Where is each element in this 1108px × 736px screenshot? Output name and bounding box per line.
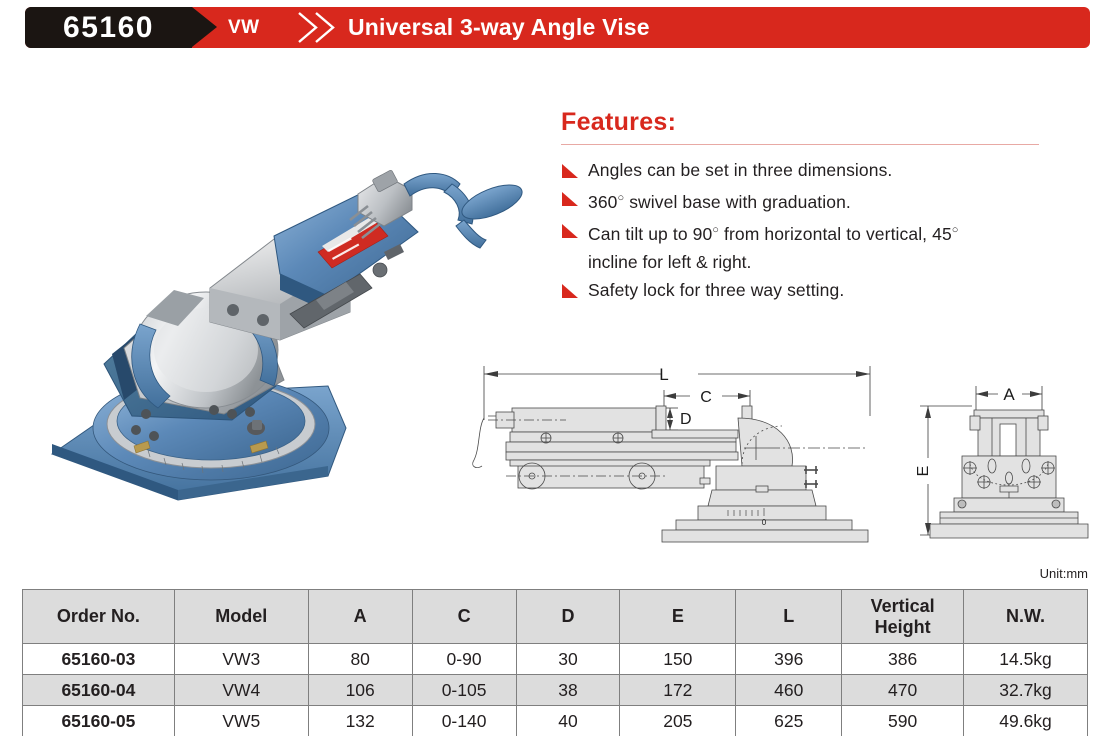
list-item: Angles can be set in three dimensions. <box>561 158 1061 183</box>
dim-label-E: E <box>915 466 932 477</box>
product-code: 65160 <box>63 7 154 48</box>
dim-label-L: L <box>659 365 668 384</box>
technical-drawing-side-view: L C D <box>466 360 886 550</box>
cell-vertical-height: 470 <box>842 675 964 706</box>
triangle-bullet-icon <box>561 223 581 240</box>
column-header-vertical-height-line2: Height <box>875 617 931 637</box>
cell-order-no: 65160-05 <box>23 706 175 736</box>
list-item: Safety lock for three way setting. <box>561 278 1061 303</box>
cell-a: 132 <box>308 706 412 736</box>
feature-text: 360○ swivel base with graduation. <box>588 186 851 215</box>
list-item: 360○ swivel base with graduation. <box>561 186 1061 215</box>
feature-text: Angles can be set in three dimensions. <box>588 158 892 183</box>
feature-text-continuation: incline for left & right. <box>588 250 1061 275</box>
catalog-page: 65160 VW Universal 3-way Angle Vise <box>0 0 1108 736</box>
features-section: Features: Angles can be set in three dim… <box>561 108 1061 306</box>
column-header-order-no: Order No. <box>23 590 175 644</box>
cell-vertical-height: 590 <box>842 706 964 736</box>
unit-note: Unit:mm <box>1040 566 1088 581</box>
cell-model: VW5 <box>174 706 308 736</box>
triangle-bullet-icon <box>561 191 581 208</box>
feature-text: Can tilt up to 90○ from horizontal to ve… <box>588 218 959 247</box>
column-header-d: D <box>516 590 620 644</box>
features-heading: Features: <box>561 108 1061 137</box>
cell-c: 0-140 <box>412 706 516 736</box>
dim-label-zero: 0 <box>762 518 767 527</box>
product-series: VW <box>228 7 260 48</box>
technical-drawing-front-view: A E <box>900 372 1090 550</box>
cell-d: 30 <box>516 644 620 675</box>
cell-l: 396 <box>736 644 842 675</box>
column-header-c: C <box>412 590 516 644</box>
column-header-vertical-height: Vertical Height <box>842 590 964 644</box>
page-header: 65160 VW Universal 3-way Angle Vise <box>0 0 1108 60</box>
table-row: 65160-03 VW3 80 0-90 30 150 396 386 14.5… <box>23 644 1088 675</box>
cell-order-no: 65160-04 <box>23 675 175 706</box>
column-header-a: A <box>308 590 412 644</box>
cell-l: 460 <box>736 675 842 706</box>
dim-label-A: A <box>1003 385 1015 404</box>
cell-a: 80 <box>308 644 412 675</box>
cell-a: 106 <box>308 675 412 706</box>
cell-nw: 14.5kg <box>964 644 1088 675</box>
double-chevron-right-icon <box>296 11 340 44</box>
product-code-badge: 65160 <box>25 7 192 48</box>
page-title: Universal 3-way Angle Vise <box>348 7 650 48</box>
column-header-l: L <box>736 590 842 644</box>
cell-d: 38 <box>516 675 620 706</box>
cell-model: VW4 <box>174 675 308 706</box>
cell-nw: 49.6kg <box>964 706 1088 736</box>
table-header-row: Order No. Model A C D E L Vertical Heigh… <box>23 590 1088 644</box>
cell-c: 0-105 <box>412 675 516 706</box>
dim-label-C: C <box>700 389 712 406</box>
cell-vertical-height: 386 <box>842 644 964 675</box>
cell-order-no: 65160-03 <box>23 644 175 675</box>
features-divider <box>561 144 1039 145</box>
triangle-bullet-icon <box>561 163 581 180</box>
badge-arrow-icon <box>192 7 217 47</box>
table-row: 65160-04 VW4 106 0-105 38 172 460 470 32… <box>23 675 1088 706</box>
column-header-e: E <box>620 590 736 644</box>
dim-label-D: D <box>680 411 692 428</box>
feature-text: Safety lock for three way setting. <box>588 278 844 303</box>
cell-e: 205 <box>620 706 736 736</box>
cell-e: 172 <box>620 675 736 706</box>
specification-table: Order No. Model A C D E L Vertical Heigh… <box>22 589 1088 736</box>
cell-nw: 32.7kg <box>964 675 1088 706</box>
column-header-nw: N.W. <box>964 590 1088 644</box>
column-header-vertical-height-line1: Vertical <box>871 596 935 616</box>
cell-l: 625 <box>736 706 842 736</box>
column-header-model: Model <box>174 590 308 644</box>
table-row: 65160-05 VW5 132 0-140 40 205 625 590 49… <box>23 706 1088 736</box>
triangle-bullet-icon <box>561 283 581 300</box>
cell-c: 0-90 <box>412 644 516 675</box>
cell-d: 40 <box>516 706 620 736</box>
list-item: Can tilt up to 90○ from horizontal to ve… <box>561 218 1061 247</box>
cell-e: 150 <box>620 644 736 675</box>
cell-model: VW3 <box>174 644 308 675</box>
